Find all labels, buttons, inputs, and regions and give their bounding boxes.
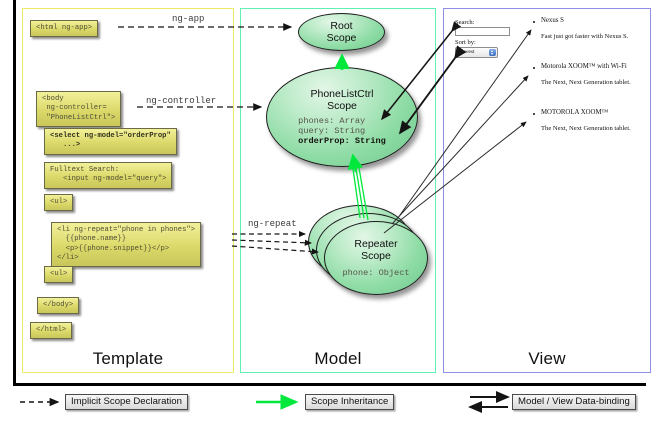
diagram-canvas: Template Model View <html ng-app> <body … [0,0,661,425]
code-box-html-open: <html ng-app> [30,20,98,37]
legend-divider [13,383,646,386]
view-search-label: Search: [455,19,475,26]
legend-item-scope-inheritance: Scope Inheritance [305,394,394,410]
code-box-select: <select ng-model="orderProp" ...> [44,128,177,155]
scope-root: Root Scope [298,13,385,51]
scope-phonelistctrl-title-line2: Scope [327,100,357,112]
legend-item-implicit-scope-declaration: Implicit Scope Declaration [65,394,188,410]
view-sort-label: Sort by: [455,39,476,46]
panel-label-view: View [444,349,650,369]
scope-prop-query: query: String [298,126,386,136]
code-box-html-close: </html> [30,322,72,339]
scope-prop-phones: phones: Array [298,116,386,126]
view-phone-snippet: The Next, Next Generation tablet. [541,79,631,86]
connector-label-ng-repeat: ng-repeat [248,219,297,229]
scope-repeater: Repeater Scope phone: Object [324,221,428,295]
view-sort-selected-value: Newest [458,49,475,55]
code-box-li-ng-repeat: <li ng-repeat="phone in phones"> {{phone… [51,222,201,267]
code-box-ul-open: <ul> [44,194,73,211]
panel-template: Template [22,8,234,373]
view-phone-name[interactable]: MOTOROLA XOOM™ [541,109,608,116]
connector-label-ng-controller: ng-controller [146,96,216,106]
scope-repeater-title-line1: Repeater [354,238,397,250]
panel-label-model: Model [241,349,435,369]
chevron-updown-icon [489,49,496,56]
view-sort-select[interactable]: Newest [455,47,498,58]
scope-prop-orderprop: orderProp: String [298,136,386,146]
code-box-ul-close: <ul> [44,266,73,283]
scope-phonelistctrl: PhoneListCtrl Scope phones: Array query:… [266,67,418,167]
connector-label-ng-app: ng-app [172,14,204,24]
scope-root-title-line2: Scope [327,32,357,44]
panel-model: Model [240,8,436,373]
view-phone-snippet: The Next, Next Generation tablet. [541,125,631,132]
legend-glyph-double-arrow [470,397,508,407]
scope-repeater-title-line2: Scope [361,250,391,262]
panel-label-template: Template [23,349,233,369]
view-phone-name[interactable]: Motorola XOOM™ with Wi-Fi [541,63,627,70]
code-box-body-open: <body ng-controller= "PhoneListCtrl"> [36,91,121,127]
scope-root-title-line1: Root [330,20,352,32]
view-search-input[interactable] [455,27,510,36]
legend-item-model-view-data-binding: Model / View Data-binding [512,394,636,410]
code-box-body-close: </body> [37,297,79,314]
view-phone-name[interactable]: Nexus S [541,17,564,24]
scope-prop-phone: phone: Object [342,268,409,278]
left-vertical-rule [13,0,16,383]
scope-phonelistctrl-title-line1: PhoneListCtrl [310,88,373,100]
view-phone-snippet: Fast just got faster with Nexus S. [541,33,628,40]
code-box-fulltext-search: Fulltext Search: <input ng-model="query"… [44,162,172,189]
